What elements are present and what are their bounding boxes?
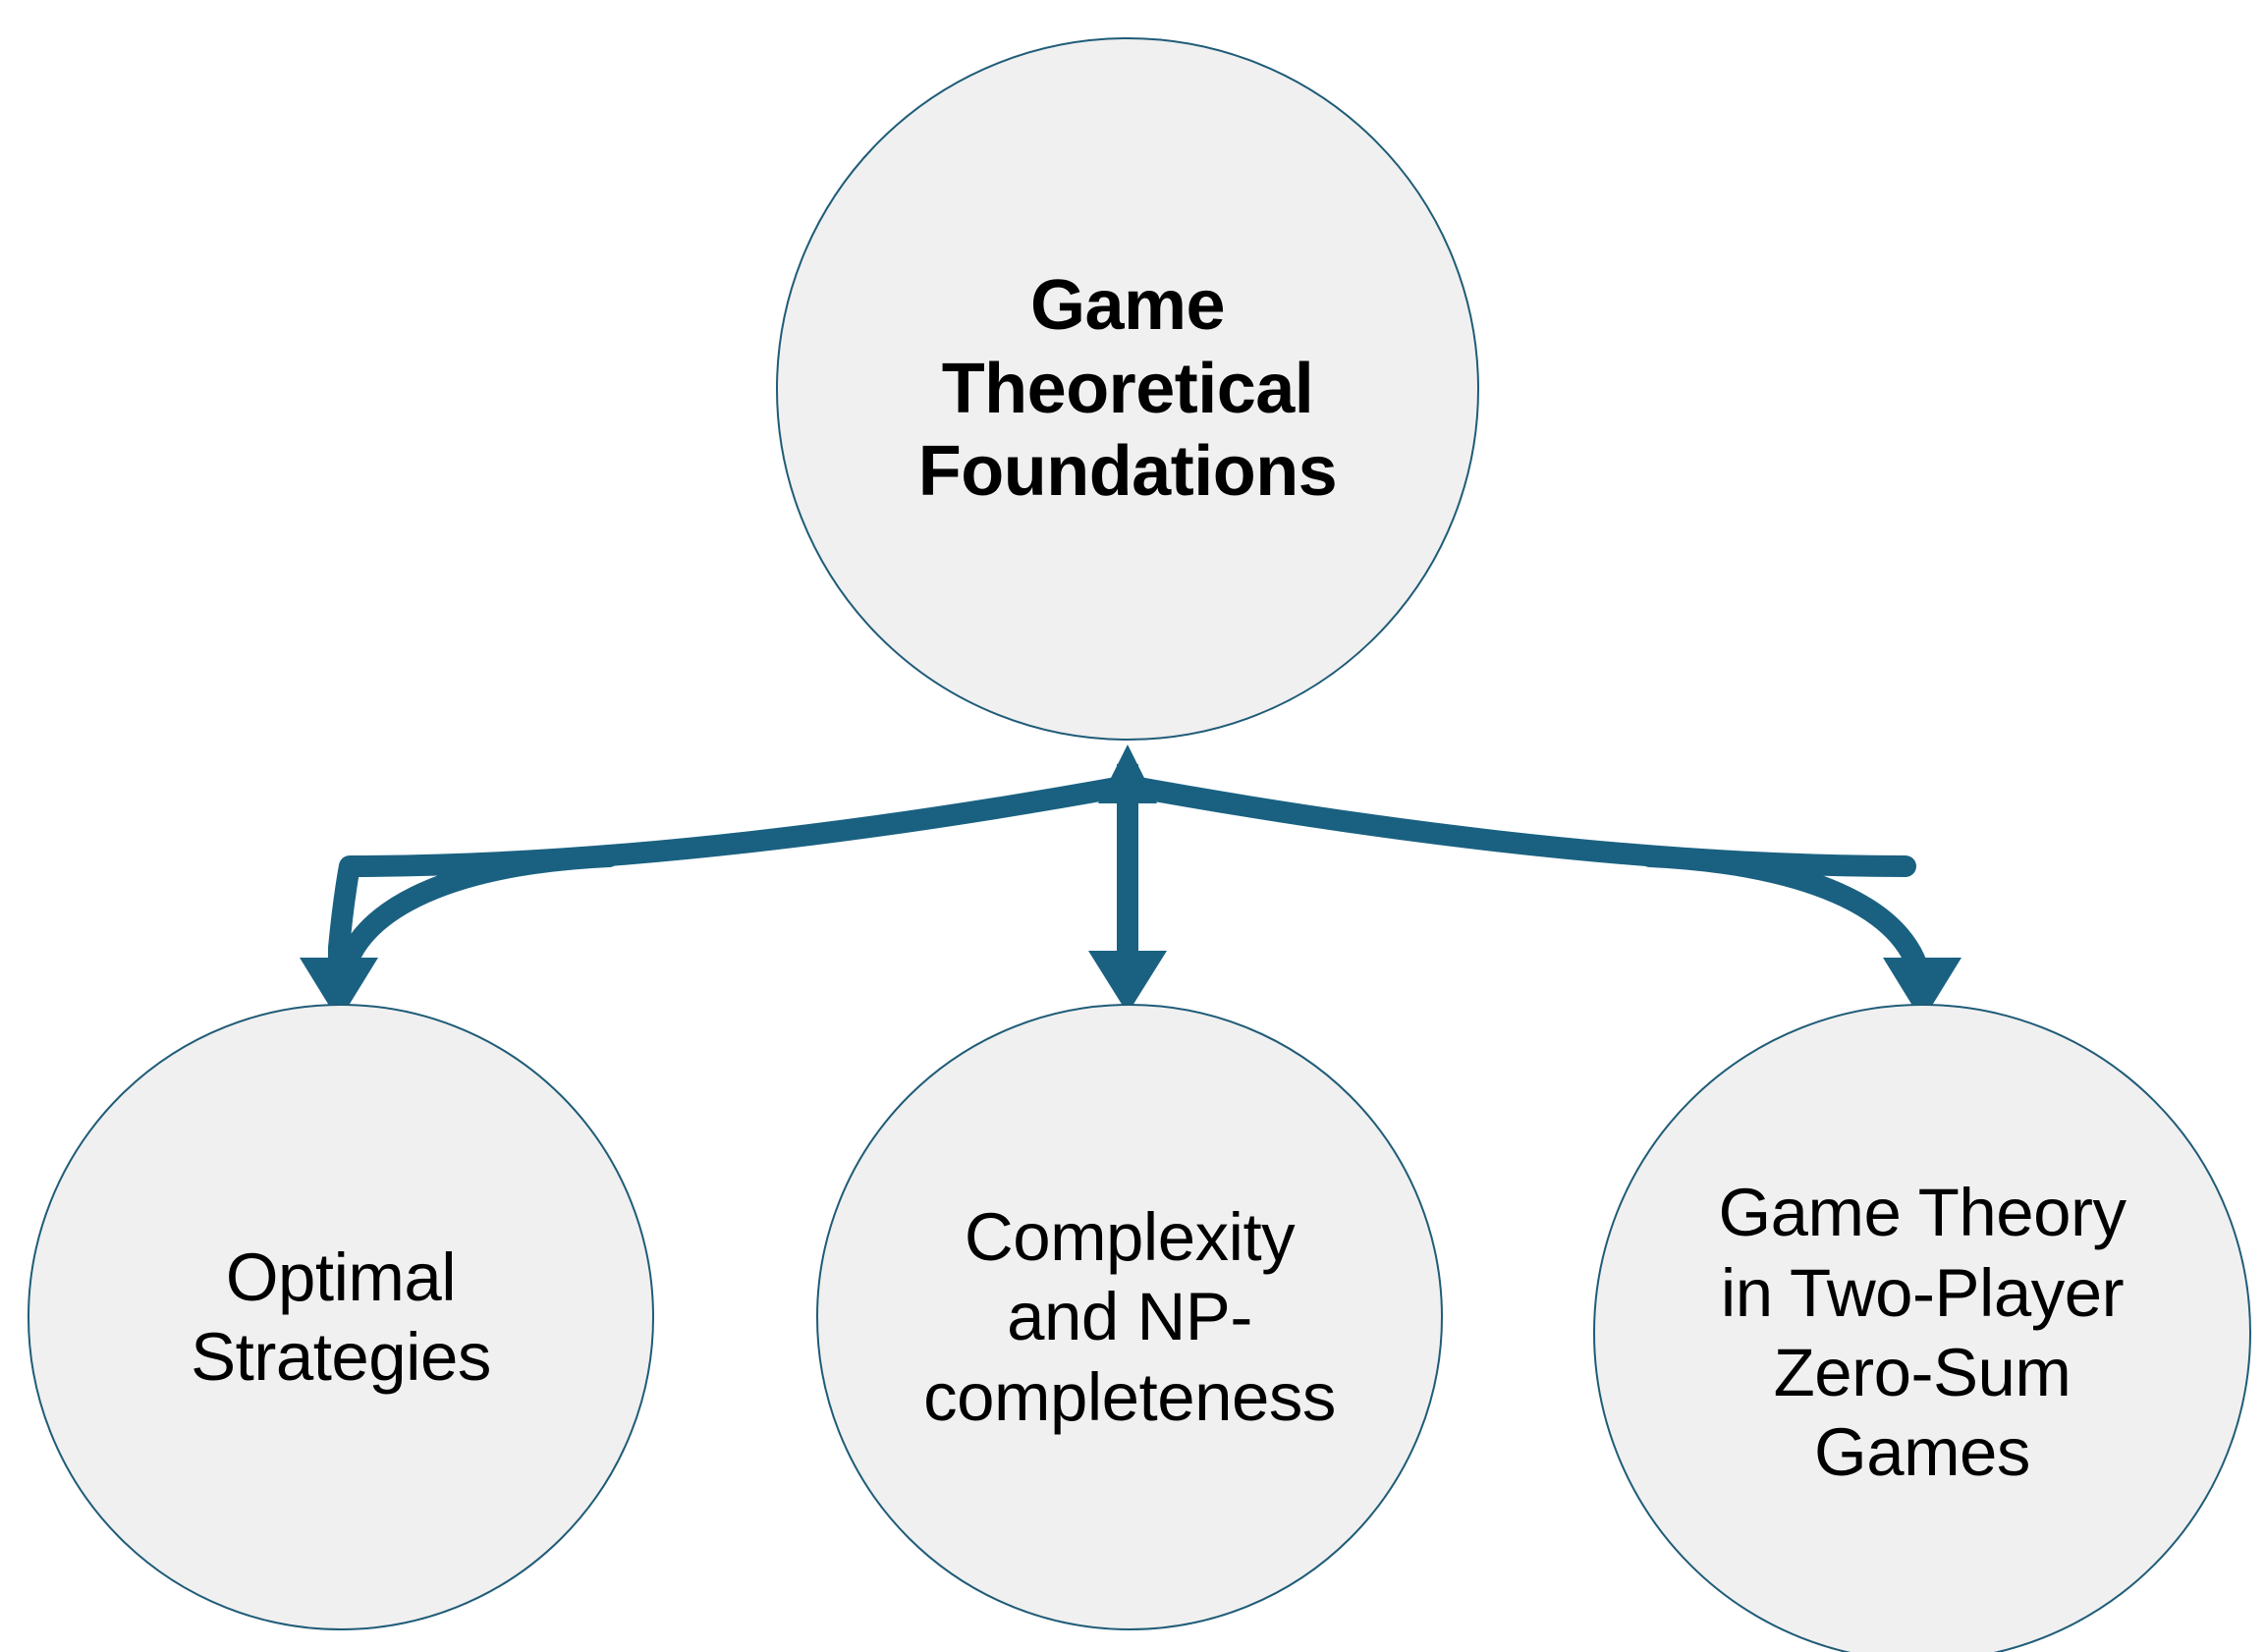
- connector-spine: [350, 786, 1906, 866]
- node-complexity-np-completeness[interactable]: Complexity and NP- completeness: [816, 1004, 1443, 1630]
- diagram-canvas: Game Theoretical Foundations Optimal Str…: [0, 0, 2265, 1652]
- connector-root-to-optimal-strategies: [339, 866, 350, 982]
- node-label-optimal-strategies: Optimal Strategies: [185, 1238, 497, 1398]
- connector-left-curve: [342, 856, 609, 984]
- node-game-theoretical-foundations[interactable]: Game Theoretical Foundations: [776, 37, 1479, 741]
- junction-up-arrowhead: [1098, 744, 1157, 803]
- node-label-game-theory-two-player-zero-sum: Game Theory in Two-Player Zero-Sum Games: [1716, 1173, 2127, 1493]
- node-optimal-strategies[interactable]: Optimal Strategies: [28, 1004, 654, 1630]
- node-game-theory-two-player-zero-sum[interactable]: Game Theory in Two-Player Zero-Sum Games: [1593, 1004, 2251, 1652]
- node-label-complexity-np-completeness: Complexity and NP- completeness: [917, 1197, 1342, 1437]
- connector-root-to-game-theory: [1650, 856, 1921, 984]
- node-label-root: Game Theoretical Foundations: [912, 264, 1343, 515]
